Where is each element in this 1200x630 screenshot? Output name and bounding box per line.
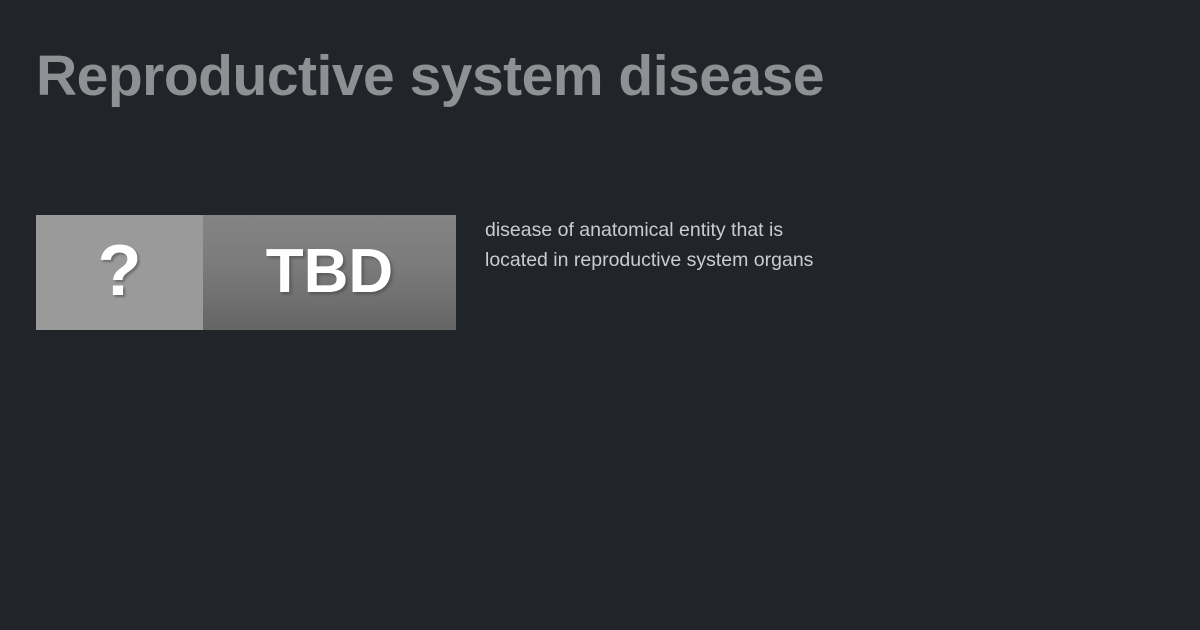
thumbnail-placeholder: ? TBD	[36, 215, 456, 330]
thumbnail-right-panel: TBD	[203, 215, 456, 330]
page-title: Reproductive system disease	[36, 47, 1036, 106]
description-text: disease of anatomical entity that is loc…	[485, 215, 815, 275]
content-row: ? TBD disease of anatomical entity that …	[36, 215, 1166, 330]
thumbnail-tbd-label: TBD	[266, 241, 393, 303]
og-preview-card: Reproductive system disease ? TBD diseas…	[0, 0, 1200, 630]
question-mark-icon: ?	[98, 235, 142, 307]
thumbnail-left-panel: ?	[36, 215, 203, 330]
